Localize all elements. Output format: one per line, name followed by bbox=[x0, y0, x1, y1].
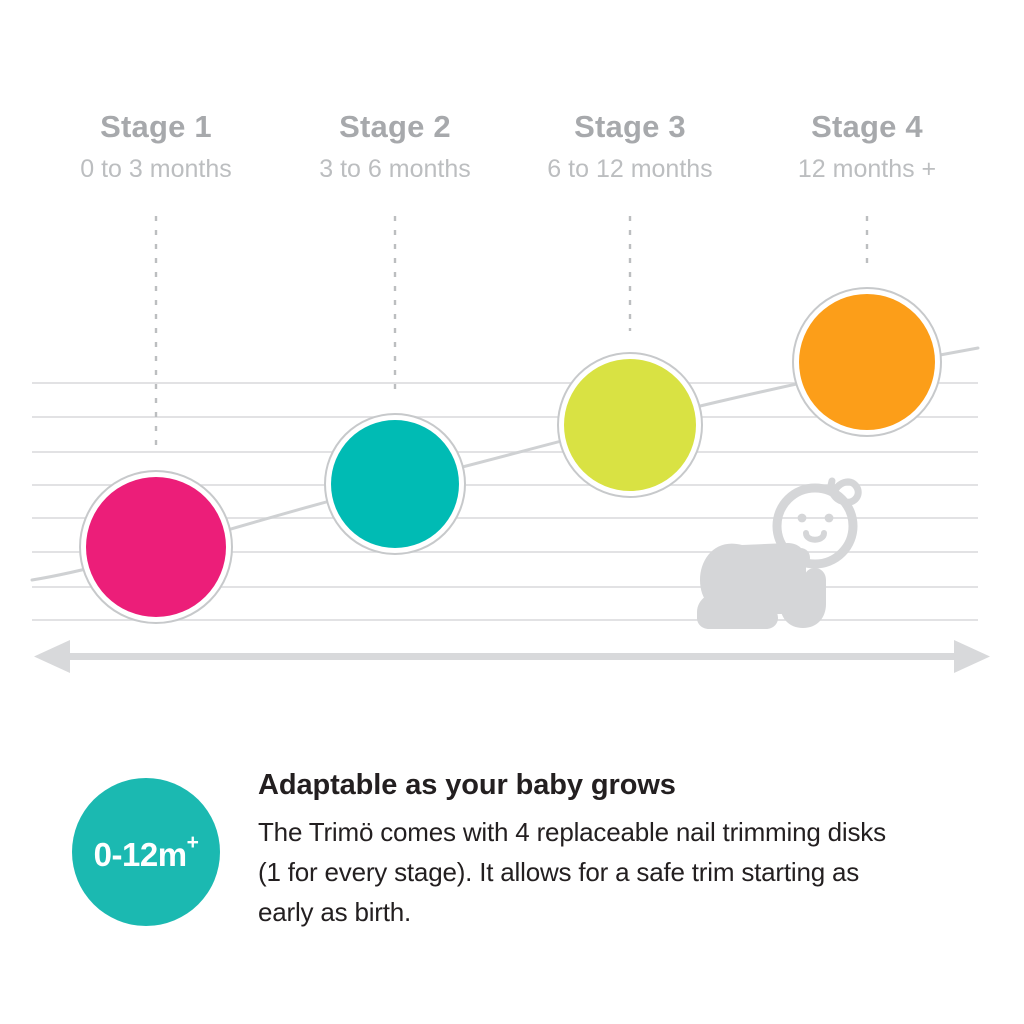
growth-chart bbox=[0, 0, 1024, 700]
axis-arrow-right bbox=[954, 640, 990, 673]
baby-eye-right bbox=[825, 514, 834, 523]
stage-1-disk-fill bbox=[86, 477, 226, 617]
age-range-plus: + bbox=[187, 831, 199, 854]
stage-4-disk-fill bbox=[799, 294, 935, 430]
stage-3-disk-fill bbox=[564, 359, 696, 491]
axis-arrow-left bbox=[34, 640, 70, 673]
stage-2-disk-fill bbox=[331, 420, 459, 548]
stage-leader-lines bbox=[156, 216, 867, 446]
stage-4-disk[interactable] bbox=[793, 288, 941, 436]
axis-shaft bbox=[62, 653, 962, 660]
stage-3-disk[interactable] bbox=[558, 353, 702, 497]
baby-smile bbox=[806, 533, 824, 540]
stage-1-disk[interactable] bbox=[80, 471, 232, 623]
baby-hair-curl bbox=[831, 481, 858, 502]
age-range-badge: 0-12m+ bbox=[72, 778, 220, 926]
growth-timeline-axis bbox=[34, 640, 990, 673]
age-range-badge-label: 0-12m+ bbox=[94, 837, 199, 871]
baby-eye-left bbox=[798, 514, 807, 523]
age-range-value: 0-12m bbox=[94, 836, 187, 873]
infographic-canvas: Stage 1 0 to 3 months Stage 2 3 to 6 mon… bbox=[0, 0, 1024, 1024]
feature-copy: Adaptable as your baby grows The Trimö c… bbox=[258, 766, 908, 932]
feature-description: The Trimö comes with 4 replaceable nail … bbox=[258, 812, 908, 932]
feature-headline: Adaptable as your baby grows bbox=[258, 766, 908, 804]
crawling-baby-icon bbox=[697, 481, 858, 629]
feature-block: 0-12m+ Adaptable as your baby grows The … bbox=[0, 760, 1024, 960]
stage-2-disk[interactable] bbox=[325, 414, 465, 554]
